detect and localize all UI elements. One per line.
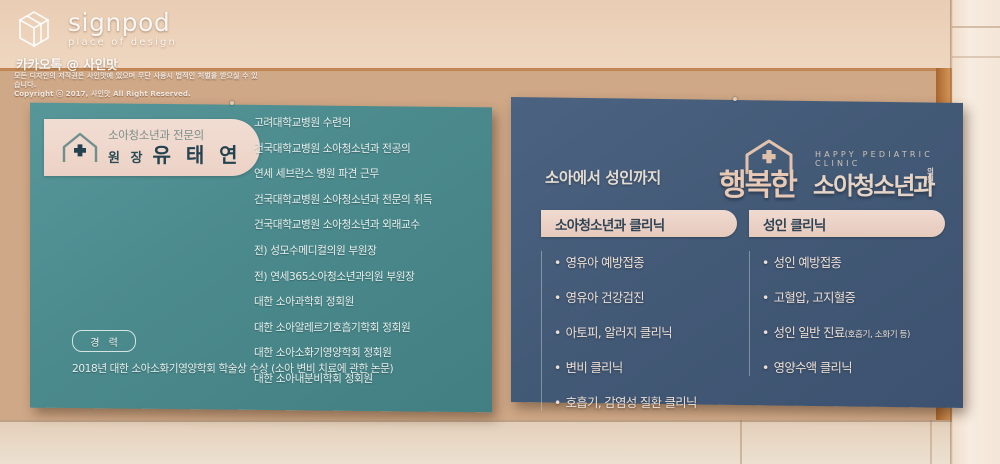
doctor-specialty: 소아청소년과 전문의 <box>108 130 242 142</box>
career-item: 2018년 대한 소아소화기영양학회 학술상 수상 (소아 변비 치료에 관한 … <box>72 361 472 376</box>
doctor-title: 원 장 <box>108 152 145 165</box>
service-item: •성인 예방접종 <box>762 253 945 271</box>
brand-suffix: 의 원 <box>927 168 934 184</box>
service-item-label: 아토피, 알러지 클리닉 <box>566 326 672 340</box>
service-item-label: 성인 예방접종 <box>774 256 842 270</box>
credentials-list: 고려대학교병원 수련의 건국대학교병원 소아청소년과 전공의 연세 세브란스 병… <box>254 115 486 397</box>
service-item-label: 성인 일반 진료 <box>774 326 845 340</box>
watermark-brand: signpod <box>68 10 177 35</box>
doctor-name-badge: 소아청소년과 전문의 원 장 유 태 연 <box>44 119 260 176</box>
clinic-services-panel: 소아에서 성인까지 행복한 HAPPY PEDIATRIC CLINIC 소아청… <box>511 97 963 408</box>
ceiling-trim-line-1 <box>952 26 1000 28</box>
pediatric-clinic-header: 소아청소년과 클리닉 <box>541 210 737 237</box>
brand-name-clinic: 소아청소년과 <box>813 166 933 201</box>
service-item-label: 호흡기, 감염성 질환 클리닉 <box>566 396 697 410</box>
service-item: •성인 일반 진료(호흡기, 소화기 등) <box>762 323 945 341</box>
service-item-label: 영유아 건강검진 <box>566 291 644 305</box>
watermark-wordmark: signpod place of design <box>68 10 177 48</box>
adult-clinic-column: 성인 클리닉 •성인 예방접종 •고혈압, 고지혈증 •성인 일반 진료(호흡기… <box>749 210 945 393</box>
credential-item: 건국대학교병원 소아청소년과 전문의 취득 <box>254 192 486 207</box>
bullet-icon: • <box>762 291 769 305</box>
career-label: 경 력 <box>87 334 121 349</box>
wall-lower-seam <box>0 420 1000 422</box>
adult-clinic-title: 성인 클리닉 <box>763 214 826 234</box>
watermark-kakao: 카카오톡 @ 사인맛 <box>16 54 118 73</box>
credential-item: 연세 세브란스 병원 파견 근무 <box>254 166 486 181</box>
bullet-icon: • <box>762 326 769 340</box>
panel-mount-pin <box>230 101 234 105</box>
bullet-icon: • <box>554 291 561 305</box>
watermark-tagline: place of design <box>68 38 177 48</box>
house-cross-icon <box>60 130 100 166</box>
credential-item: 고려대학교병원 수련의 <box>254 115 486 130</box>
credential-item: 대한 소아알레르기호흡기학회 정회원 <box>254 320 486 335</box>
pediatric-clinic-column: 소아청소년과 클리닉 •영유아 예방접종 •영유아 건강검진 •아토피, 알러지… <box>541 210 737 428</box>
adult-clinic-header: 성인 클리닉 <box>749 210 945 237</box>
bullet-icon: • <box>554 396 561 410</box>
watermark-copyright-line2: Copyright ⓒ 2017, 사인맛 All Right Reserved… <box>14 90 260 99</box>
service-item-note: (호흡기, 소화기 등) <box>845 330 910 340</box>
service-item-label: 변비 클리닉 <box>566 361 623 375</box>
pediatric-clinic-title: 소아청소년과 클리닉 <box>555 214 664 234</box>
pediatric-clinic-body: •영유아 예방접종 •영유아 건강검진 •아토피, 알러지 클리닉 •변비 클리… <box>541 251 737 411</box>
brand-name-happy: 행복한 <box>719 160 796 204</box>
credential-item: 대한 소아소화기영양학회 정회원 <box>254 345 486 360</box>
service-item: •변비 클리닉 <box>554 358 737 376</box>
credential-item: 건국대학교병원 소아청소년과 전공의 <box>254 141 486 156</box>
bullet-icon: • <box>762 361 769 375</box>
baseboard-seam-2 <box>930 420 932 464</box>
signpod-cube-icon <box>14 6 60 52</box>
credential-item: 전) 연세365소아청소년과의원 부원장 <box>254 269 486 284</box>
service-item: •아토피, 알러지 클리닉 <box>554 323 737 341</box>
service-item: •호흡기, 감염성 질환 클리닉 <box>554 393 737 411</box>
baseboard-seam-1 <box>740 420 742 464</box>
service-item: •영유아 건강검진 <box>554 288 737 306</box>
watermark: signpod place of design 카카오톡 @ 사인맛 모든 디자… <box>0 0 260 95</box>
service-item-label: 고혈압, 고지혈증 <box>774 291 856 305</box>
bullet-icon: • <box>762 256 769 270</box>
watermark-copyright-line1: 모든 디자인의 저작권은 사인맛에 있으며 무단 사용시 법적인 처벌을 받으실… <box>14 72 260 90</box>
adult-clinic-body: •성인 예방접종 •고혈압, 고지혈증 •성인 일반 진료(호흡기, 소화기 등… <box>749 251 945 376</box>
clinic-brand-logo: 소아에서 성인까지 행복한 HAPPY PEDIATRIC CLINIC 소아청… <box>545 138 945 200</box>
credential-item: 건국대학교병원 소아청소년과 외래교수 <box>254 217 486 232</box>
credential-item: 대한 소아과학회 정회원 <box>254 294 486 309</box>
signage-photo: signpod place of design 카카오톡 @ 사인맛 모든 디자… <box>0 0 1000 464</box>
brand-suffix-bottom: 원 <box>927 176 934 184</box>
service-item-label: 영양수액 클리닉 <box>774 361 852 375</box>
bullet-icon: • <box>554 326 561 340</box>
service-item: •영양수액 클리닉 <box>762 358 945 376</box>
doctor-name: 유 태 연 <box>152 145 241 165</box>
brand-tagline: 소아에서 성인까지 <box>545 166 661 188</box>
doctor-profile-panel: 소아청소년과 전문의 원 장 유 태 연 고려대학교병원 수련의 건국대학교병원… <box>30 103 492 413</box>
service-item-label: 영유아 예방접종 <box>566 256 644 270</box>
bullet-icon: • <box>554 256 561 270</box>
panel-mount-pin <box>733 97 737 101</box>
credential-item: 전) 성모수메디컬의원 부원장 <box>254 243 486 258</box>
service-item: •영유아 예방접종 <box>554 253 737 271</box>
service-item: •고혈압, 고지혈증 <box>762 288 945 306</box>
career-section-badge: 경 력 <box>72 330 136 352</box>
ceiling-trim-line-2 <box>952 56 1000 58</box>
bullet-icon: • <box>554 361 561 375</box>
wall-lower <box>0 420 1000 464</box>
watermark-copyright: 모든 디자인의 저작권은 사인맛에 있으며 무단 사용시 법적인 처벌을 받으실… <box>14 72 260 98</box>
watermark-logo: signpod place of design <box>14 6 177 52</box>
